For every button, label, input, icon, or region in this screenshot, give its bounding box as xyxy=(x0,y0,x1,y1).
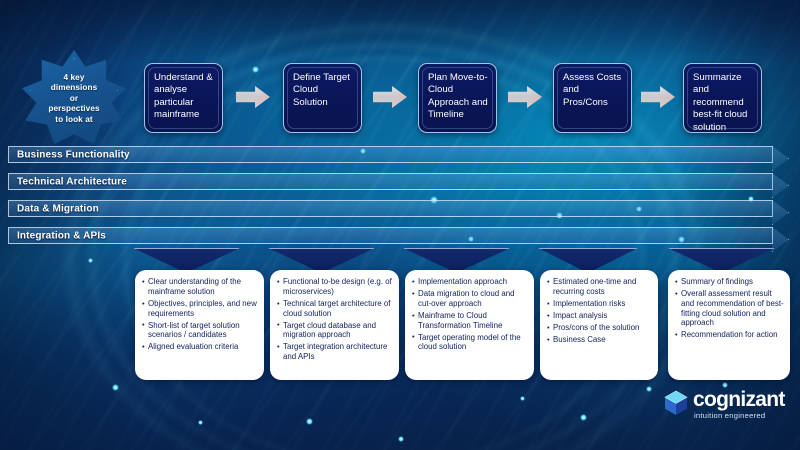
process-step-1[interactable]: Understand & analyse particular mainfram… xyxy=(144,63,223,133)
list-item: Clear understanding of the mainframe sol… xyxy=(142,277,259,297)
process-step-label: Assess Costs and Pros/Cons xyxy=(563,72,625,109)
star-line-2: dimensions xyxy=(22,83,126,93)
dimension-ribbon-label: Technical Architecture xyxy=(17,176,127,187)
process-step-label: Summarize and recommend best-fit cloud s… xyxy=(693,72,755,134)
list-item: Mainframe to Cloud Transformation Timeli… xyxy=(412,311,529,331)
cognizant-logo: cognizant intuition engineered xyxy=(663,387,793,425)
key-dimensions-star: 4 key dimensions or perspectives to look… xyxy=(22,50,126,148)
outcome-list: Summary of findings Overall assessment r… xyxy=(668,270,790,347)
list-item: Functional to-be design (e.g. of microse… xyxy=(277,277,394,297)
cognizant-tagline: intuition engineered xyxy=(694,411,765,420)
list-item: Implementation approach xyxy=(412,277,529,287)
process-step-label: Plan Move-to-Cloud Approach and Timeline xyxy=(428,72,490,122)
outcome-list: Estimated one-time and recurring costs I… xyxy=(540,270,658,352)
list-item: Target cloud database and migration appr… xyxy=(277,321,394,341)
process-step-label: Define Target Cloud Solution xyxy=(293,72,355,109)
list-item: Recommendation for action xyxy=(675,330,785,340)
outcome-card-3[interactable]: Implementation approach Data migration t… xyxy=(405,270,534,380)
star-label: 4 key dimensions or perspectives to look… xyxy=(22,73,126,125)
process-step-label: Understand & analyse particular mainfram… xyxy=(154,72,216,122)
list-item: Short-list of target solution scenarios … xyxy=(142,321,259,341)
outcome-card-1[interactable]: Clear understanding of the mainframe sol… xyxy=(135,270,264,380)
process-step-2[interactable]: Define Target Cloud Solution xyxy=(283,63,362,133)
outcome-card-4[interactable]: Estimated one-time and recurring costs I… xyxy=(540,270,658,380)
star-line-4: perspectives xyxy=(22,104,126,114)
outcome-list: Clear understanding of the mainframe sol… xyxy=(135,270,264,359)
list-item: Technical target architecture of cloud s… xyxy=(277,299,394,319)
process-step-4[interactable]: Assess Costs and Pros/Cons xyxy=(553,63,632,133)
list-item: Pros/cons of the solution xyxy=(547,323,653,333)
list-item: Data migration to cloud and cut-over app… xyxy=(412,289,529,309)
process-step-5[interactable]: Summarize and recommend best-fit cloud s… xyxy=(683,63,762,133)
outcome-card-5[interactable]: Summary of findings Overall assessment r… xyxy=(668,270,790,380)
list-item: Business Case xyxy=(547,335,653,345)
list-item: Estimated one-time and recurring costs xyxy=(547,277,653,297)
list-item: Target integration architecture and APIs xyxy=(277,342,394,362)
cognizant-wordmark: cognizant xyxy=(693,389,785,410)
dimension-ribbon-label: Data & Migration xyxy=(17,203,99,214)
outcome-list: Functional to-be design (e.g. of microse… xyxy=(270,270,399,369)
cognizant-mark-icon xyxy=(663,390,689,416)
list-item: Aligned evaluation criteria xyxy=(142,342,259,352)
process-step-3[interactable]: Plan Move-to-Cloud Approach and Timeline xyxy=(418,63,497,133)
slide-canvas: 4 key dimensions or perspectives to look… xyxy=(0,0,800,450)
list-item: Target operating model of the cloud solu… xyxy=(412,333,529,353)
list-item: Objectives, principles, and new requirem… xyxy=(142,299,259,319)
list-item: Summary of findings xyxy=(675,277,785,287)
dimension-ribbon-label: Business Functionality xyxy=(17,149,130,160)
star-line-1: 4 key xyxy=(22,73,126,83)
list-item: Impact analysis xyxy=(547,311,653,321)
star-line-5: to look at xyxy=(22,115,126,125)
outcome-list: Implementation approach Data migration t… xyxy=(405,270,534,359)
outcome-card-2[interactable]: Functional to-be design (e.g. of microse… xyxy=(270,270,399,380)
list-item: Implementation risks xyxy=(547,299,653,309)
list-item: Overall assessment result and recommenda… xyxy=(675,289,785,328)
star-line-3: or xyxy=(22,94,126,104)
dimension-ribbon-label: Integration & APIs xyxy=(17,230,106,241)
